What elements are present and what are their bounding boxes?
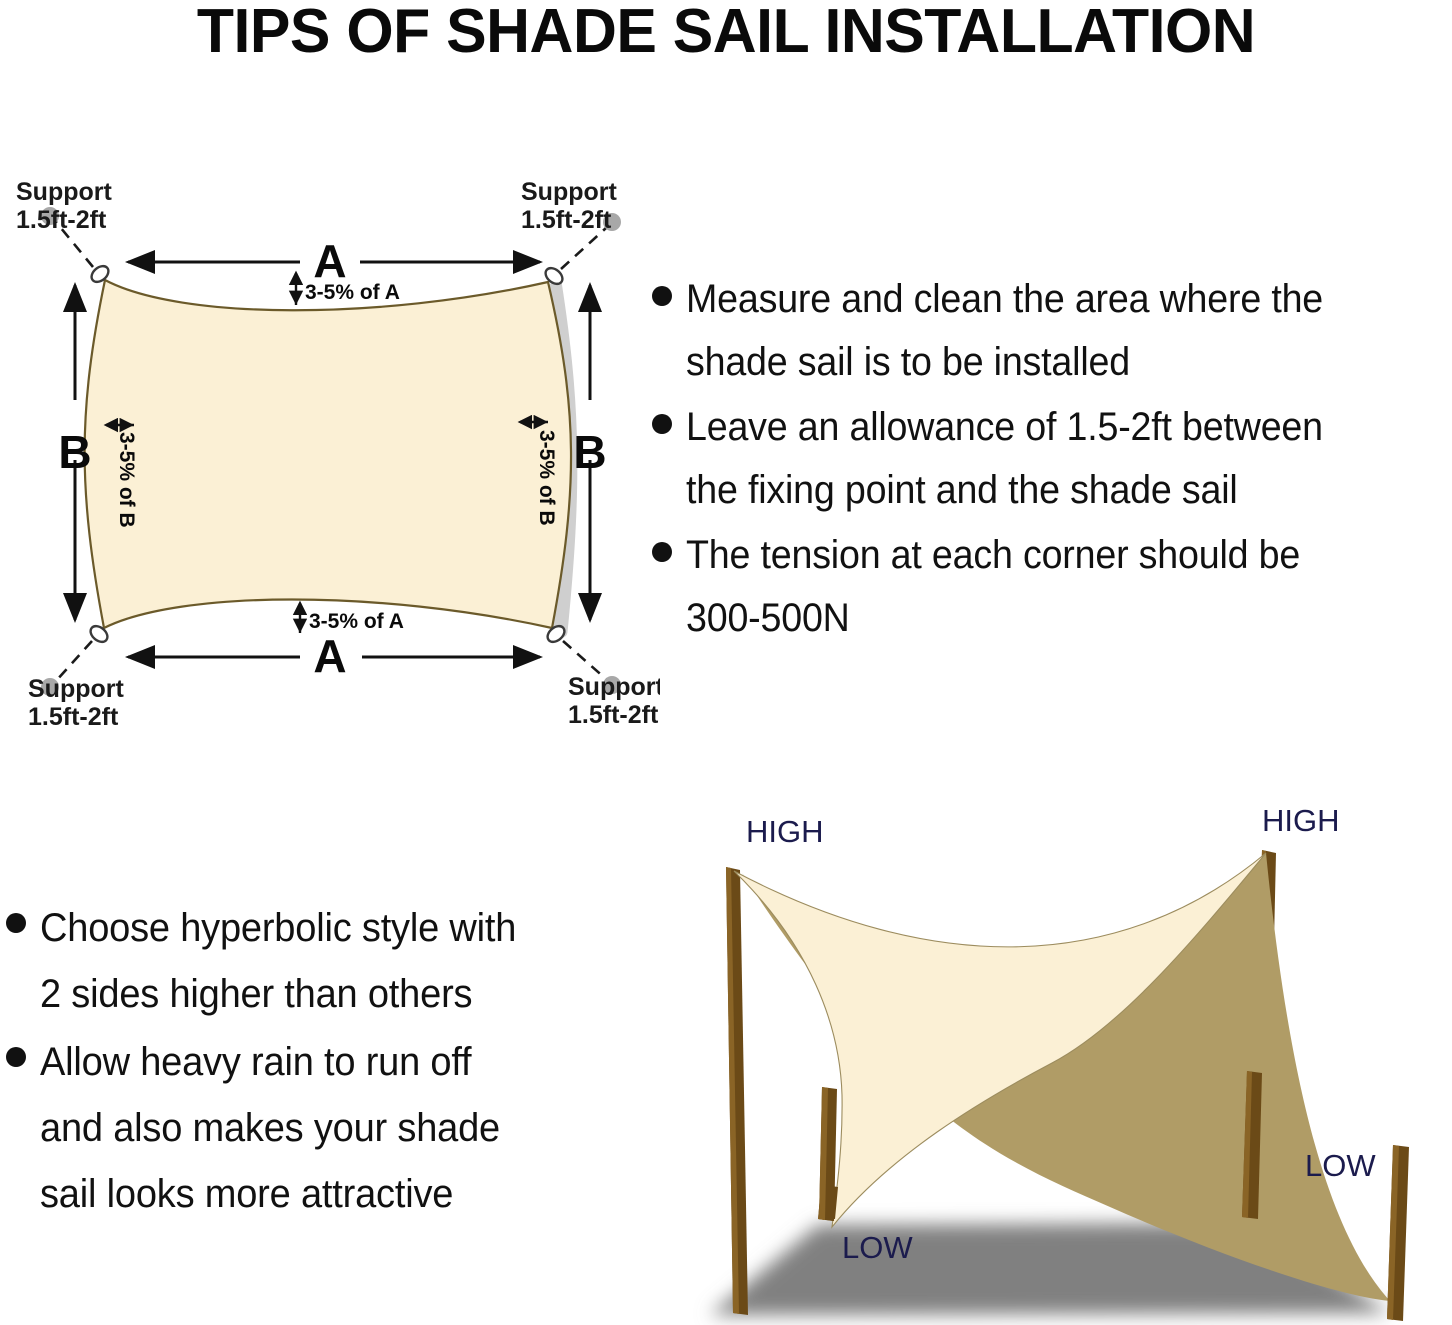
tip-text: Leave an allowance of 1.5-2ft between th…: [686, 396, 1323, 522]
label-low-right-text: LOW: [1305, 1148, 1376, 1184]
tolerance-b-label: 3-5% of B: [115, 432, 138, 528]
list-item: Leave an allowance of 1.5-2ft between th…: [652, 396, 1452, 522]
support-label-top-right: Support 1.5ft-2ft: [521, 178, 617, 234]
list-item: Allow heavy rain to run off and also mak…: [6, 1029, 646, 1227]
support-label-line1: Support: [521, 178, 617, 206]
tolerance-b-label: 3-5% of B: [535, 430, 558, 526]
bullet-dot-icon: [652, 542, 672, 562]
label-high-right: HIGH: [1262, 803, 1340, 838]
tolerance-a-label: 3-5% of A: [305, 281, 400, 304]
support-label-bottom-right: Support 1.5ft-2ft: [568, 673, 660, 729]
tip-text: Measure and clean the area where the sha…: [686, 268, 1323, 394]
support-label-line2: 1.5ft-2ft: [521, 206, 612, 234]
installation-tips-list: Measure and clean the area where the sha…: [652, 268, 1452, 652]
dimension-b-left: B: [58, 285, 91, 620]
tolerance-a-bottom: 3-5% of A: [300, 603, 404, 633]
label-low-left: LOW: [842, 1230, 913, 1265]
support-label-line1: Support: [16, 178, 112, 206]
list-item: Choose hyperbolic style with 2 sides hig…: [6, 895, 646, 1027]
bullet-dot-icon: [652, 414, 672, 434]
bullet-dot-icon: [6, 1047, 26, 1067]
hyperbolic-style-list: Choose hyperbolic style with 2 sides hig…: [6, 895, 646, 1229]
page-title: TIPS OF SHADE SAIL INSTALLATION: [15, 0, 1438, 67]
support-label-line2: 1.5ft-2ft: [16, 206, 107, 234]
label-high-left: HIGH: [746, 814, 824, 849]
rect-sail-diagram: Support 1.5ft-2ft Support 1.5ft-2ft Supp…: [0, 160, 660, 740]
list-item: Measure and clean the area where the sha…: [652, 268, 1452, 394]
post-low-right: [1387, 1145, 1409, 1321]
bullet-dot-icon: [652, 286, 672, 306]
support-label-line1: Support: [28, 675, 124, 703]
support-label-top-left: Support 1.5ft-2ft: [16, 178, 112, 234]
hyperbolic-sail-illustration: HIGH HIGH LOW LOW: [690, 795, 1452, 1325]
dimension-b-right: B: [573, 285, 606, 620]
dimension-a-label: A: [313, 630, 346, 682]
dimension-a-bottom: A: [128, 630, 540, 682]
list-item: The tension at each corner should be 300…: [652, 524, 1452, 650]
sail-body: [85, 280, 571, 628]
post-high-left: [726, 867, 748, 1315]
support-label-bottom-left: Support 1.5ft-2ft: [28, 675, 124, 731]
tolerance-a-top: 3-5% of A: [296, 273, 400, 305]
dimension-b-label: B: [58, 426, 91, 478]
support-label-line2: 1.5ft-2ft: [28, 703, 119, 731]
tip-text: The tension at each corner should be 300…: [686, 524, 1300, 650]
support-label-line2: 1.5ft-2ft: [568, 701, 659, 729]
style-text: Choose hyperbolic style with 2 sides hig…: [40, 895, 516, 1027]
bullet-dot-icon: [6, 913, 26, 933]
dimension-b-label: B: [573, 426, 606, 478]
style-text: Allow heavy rain to run off and also mak…: [40, 1029, 500, 1227]
dimension-a-top: A: [128, 235, 540, 287]
support-label-line1: Support: [568, 673, 660, 701]
tolerance-a-label: 3-5% of A: [309, 610, 404, 633]
dimension-a-label: A: [313, 235, 346, 287]
